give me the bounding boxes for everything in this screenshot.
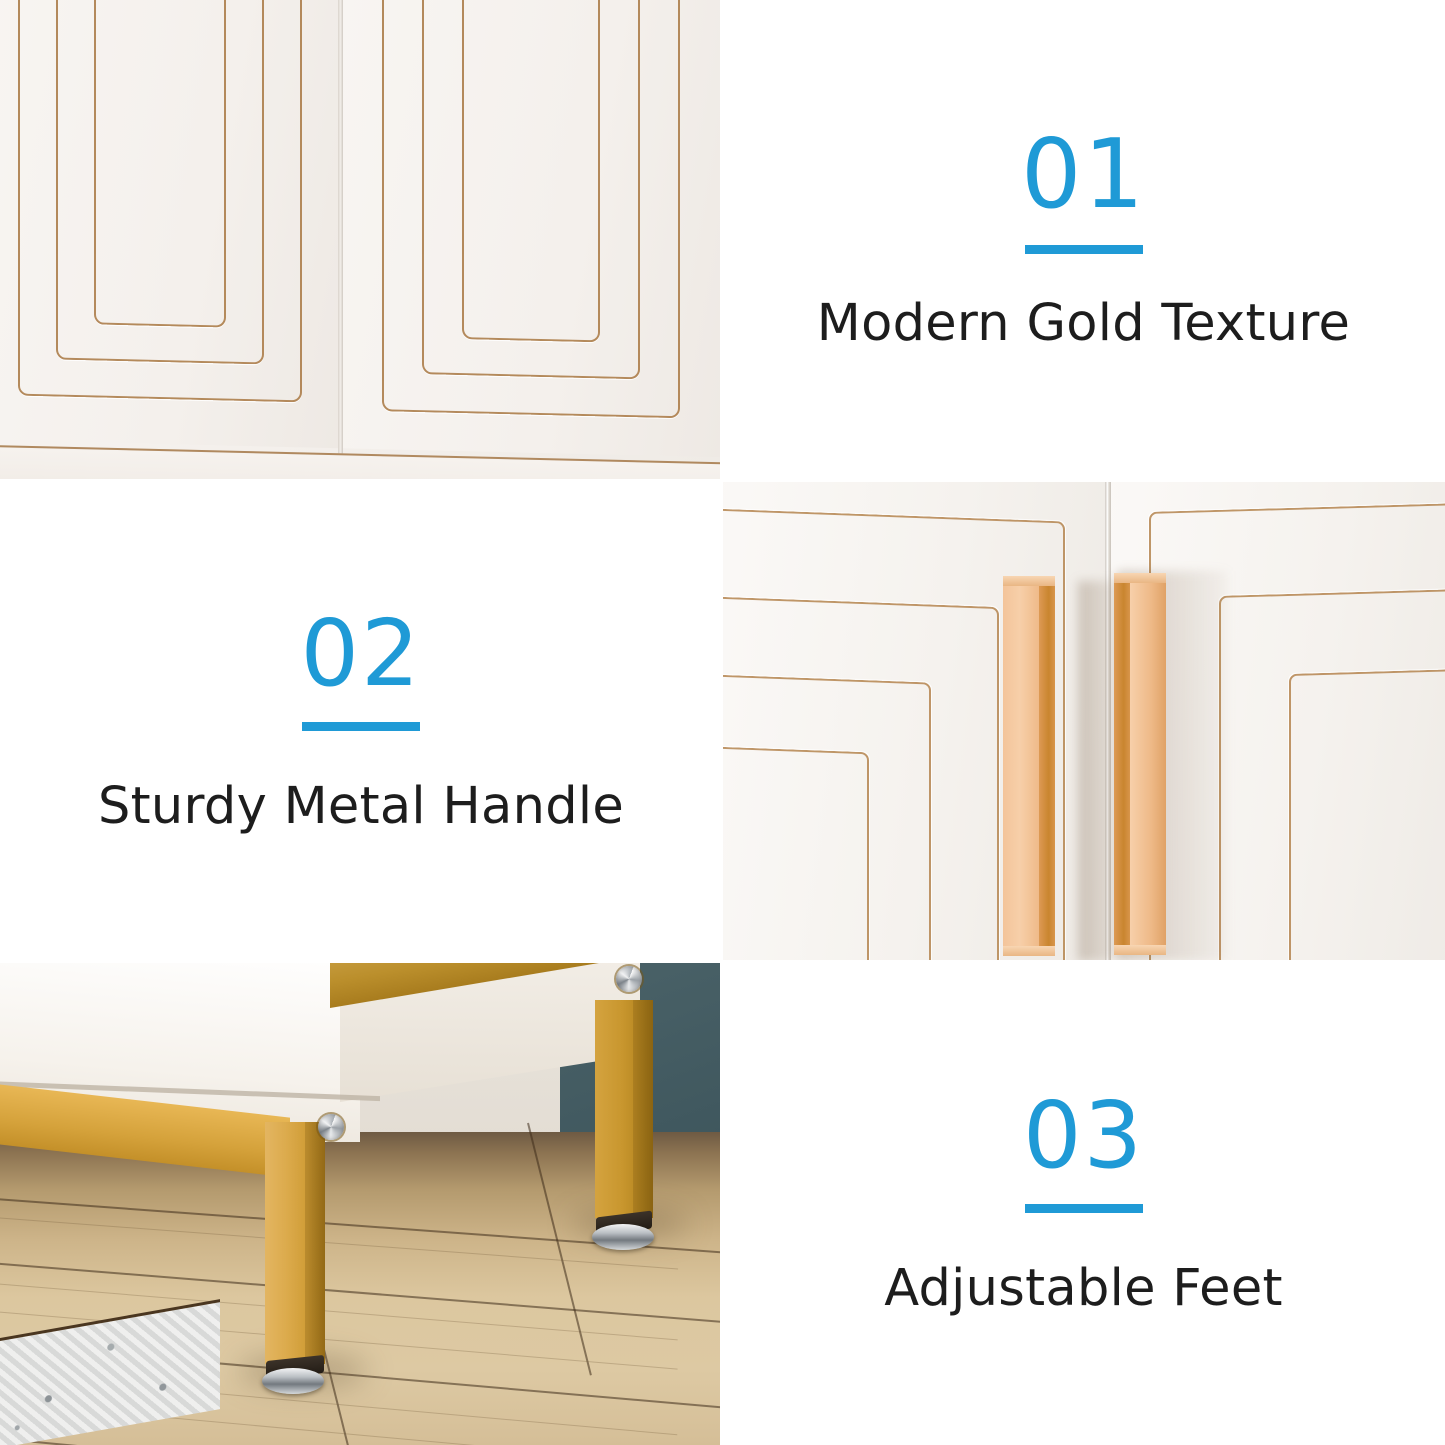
gold-groove-4 <box>722 745 869 962</box>
handle-edge <box>1039 580 1055 952</box>
grid-divider-horizontal-1 <box>0 479 1445 482</box>
plank-butt-joint <box>527 1123 592 1376</box>
handle-edge <box>1114 577 1130 951</box>
leg-shadow-face <box>633 1000 653 1218</box>
mounting-screw-front <box>318 1114 344 1140</box>
feature-title-03: Adjustable Feet <box>884 1259 1283 1318</box>
product-feature-infographic: 01 Modern Gold Texture 02 Sturdy Metal H… <box>0 0 1445 1445</box>
adjustable-foot-back[interactable] <box>592 1224 654 1250</box>
gold-groove-3 <box>1289 668 1445 962</box>
feature-title-01: Modern Gold Texture <box>817 294 1350 353</box>
grid-divider-vertical <box>720 0 723 1445</box>
leg-shadow-face <box>305 1122 325 1364</box>
adjustable-foot-front[interactable] <box>262 1368 324 1394</box>
feature-number-01: 01 <box>1021 128 1146 231</box>
feature-number-underline <box>1025 245 1143 254</box>
feature-number-underline <box>302 722 420 731</box>
cabinet-leg-back <box>595 1000 653 1218</box>
gold-groove-inner <box>94 0 226 328</box>
feature-caption-02: 02 Sturdy Metal Handle <box>0 481 722 962</box>
metal-handle-right[interactable] <box>1114 573 1166 955</box>
handle-cap-top <box>1003 576 1055 586</box>
photo-cabinet-handle-closeup <box>722 481 1445 962</box>
gold-groove-inner <box>462 0 600 342</box>
photo-cabinet-doors-gold-grooves <box>0 0 722 481</box>
feature-number-03: 03 <box>1023 1090 1144 1190</box>
feature-number-02: 02 <box>300 608 421 708</box>
feature-number-underline <box>1025 1204 1143 1213</box>
cabinet-door-left <box>0 0 340 448</box>
feature-caption-01: 01 Modern Gold Texture <box>722 0 1445 481</box>
door-seam <box>338 0 343 455</box>
metal-handle-left[interactable] <box>1003 576 1055 956</box>
handle-cap-top <box>1114 573 1166 583</box>
mounting-screw-back <box>616 966 642 992</box>
photo-cabinet-legs-adjustable-feet <box>0 962 722 1445</box>
cabinet-leg-front <box>265 1122 325 1364</box>
feature-caption-03: 03 Adjustable Feet <box>722 962 1445 1445</box>
feature-title-02: Sturdy Metal Handle <box>98 777 624 836</box>
handle-cap-bottom <box>1114 945 1166 955</box>
cabinet-door-right <box>342 0 722 457</box>
grid-divider-horizontal-2 <box>0 960 1445 963</box>
handle-cap-bottom <box>1003 946 1055 956</box>
